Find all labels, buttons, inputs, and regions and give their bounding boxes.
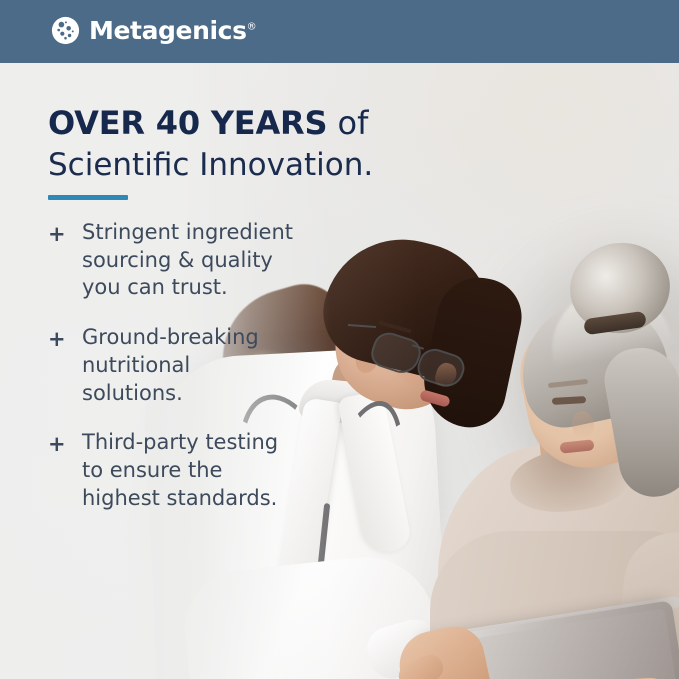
list-item-line: nutritional (82, 352, 259, 380)
page-title: OVER 40 YEARS of Scientific Innovation. (48, 105, 373, 183)
list-item: + Ground-breaking nutritional solutions. (44, 324, 374, 407)
benefits-list: + Stringent ingredient sourcing & qualit… (44, 219, 374, 534)
registered-trademark-icon: ® (247, 22, 257, 33)
marketing-banner: OVER 40 YEARS of Scientific Innovation. … (0, 0, 679, 679)
accent-divider (48, 195, 128, 200)
list-item-line: Third-party testing (82, 429, 278, 457)
cell-bubbles-circle-icon (51, 16, 80, 45)
brand-name: Metagenics (89, 16, 247, 45)
headline-strong: OVER 40 YEARS (48, 104, 327, 142)
list-item-line: to ensure the (82, 457, 278, 485)
brand-logo-lockup[interactable]: Metagenics® (51, 16, 257, 45)
plus-icon: + (44, 429, 82, 459)
list-item: + Third-party testing to ensure the high… (44, 429, 374, 512)
brand-header-bar: Metagenics® (0, 0, 679, 63)
list-item-text: Stringent ingredient sourcing & quality … (82, 219, 293, 302)
list-item-text: Third-party testing to ensure the highes… (82, 429, 278, 512)
headline-line-2: Scientific Innovation. (48, 147, 373, 184)
plus-icon: + (44, 324, 82, 354)
list-item-line: sourcing & quality (82, 247, 293, 275)
headline-light: of (327, 104, 368, 142)
list-item-text: Ground-breaking nutritional solutions. (82, 324, 259, 407)
plus-icon: + (44, 219, 82, 249)
copy-overlay: OVER 40 YEARS of Scientific Innovation. … (0, 63, 679, 679)
list-item-line: Stringent ingredient (82, 219, 293, 247)
list-item: + Stringent ingredient sourcing & qualit… (44, 219, 374, 302)
headline-line-1: OVER 40 YEARS of (48, 105, 373, 143)
brand-wordmark: Metagenics® (89, 18, 257, 43)
list-item-line: highest standards. (82, 485, 278, 513)
list-item-line: solutions. (82, 380, 259, 408)
list-item-line: Ground-breaking (82, 324, 259, 352)
list-item-line: you can trust. (82, 274, 293, 302)
